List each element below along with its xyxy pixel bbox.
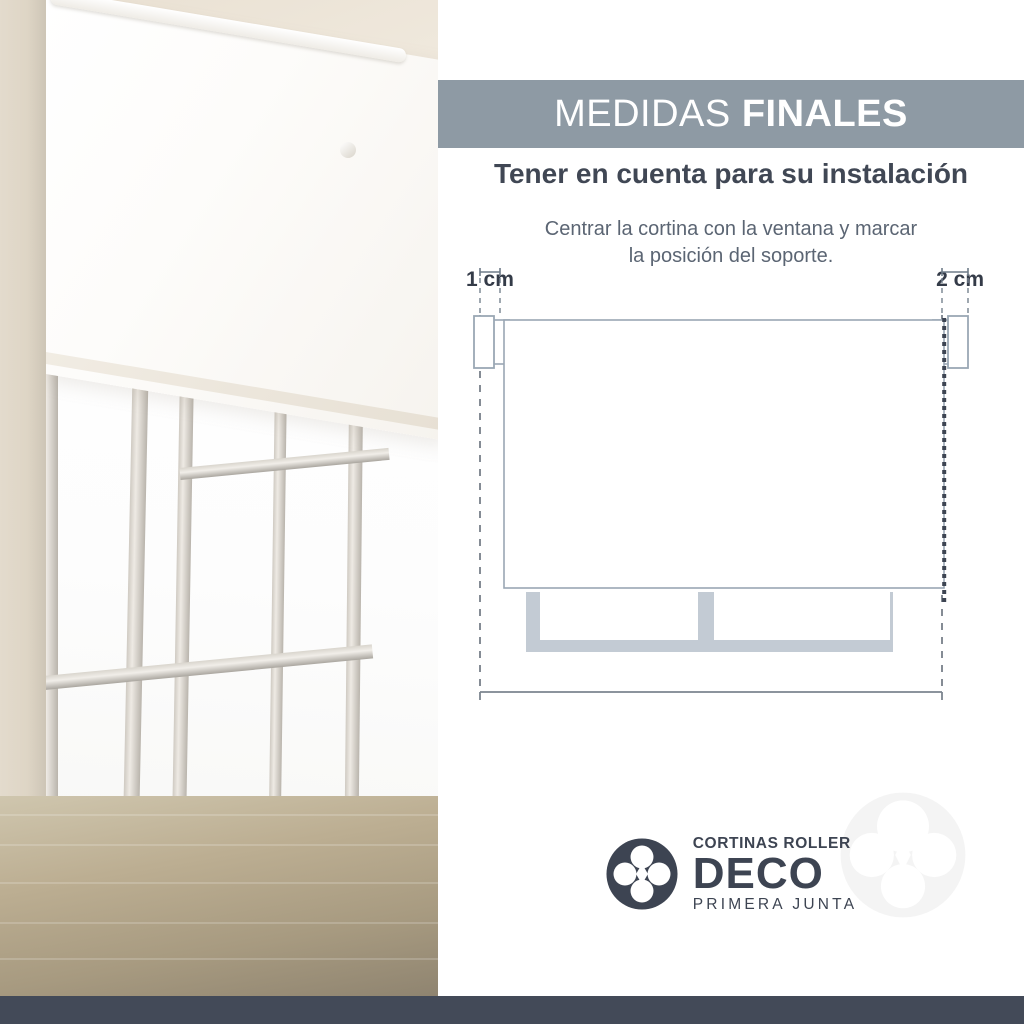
- info-panel: MEDIDAS FINALES Tener en cuenta para su …: [438, 0, 1024, 996]
- bracket-left: [474, 316, 494, 368]
- installation-diagram: [438, 260, 1024, 730]
- dim-tick-2cm: [942, 268, 968, 276]
- photo-roller-end-cap: [340, 142, 356, 158]
- photo-wall-left-column: [0, 0, 46, 900]
- header-banner: MEDIDAS FINALES: [438, 80, 1024, 148]
- brand-name: DECO: [693, 854, 857, 894]
- subtitle: Tener en cuenta para su instalación: [438, 158, 1024, 190]
- poster-canvas: MEDIDAS FINALES Tener en cuenta para su …: [0, 0, 1024, 1024]
- window-pane-left: [540, 592, 698, 640]
- page-title: MEDIDAS FINALES: [554, 93, 908, 136]
- brand-logo: CORTINAS ROLLER DECO PRIMERA JUNTA: [438, 836, 1024, 912]
- lead-line-1: Centrar la cortina con la ventana y marc…: [478, 216, 984, 243]
- page-title-light: MEDIDAS: [554, 93, 742, 135]
- product-photo: [0, 0, 438, 996]
- brand-wordmark: CORTINAS ROLLER DECO PRIMERA JUNTA: [693, 836, 857, 912]
- photo-floor: [0, 796, 438, 996]
- page-title-bold: FINALES: [742, 93, 908, 135]
- window-pane-right: [714, 592, 890, 640]
- dim-bracket-final-width: [480, 692, 942, 700]
- dim-tick-1cm: [480, 268, 500, 276]
- photo-roller-blind-fabric: [46, 0, 438, 441]
- bracket-right: [948, 316, 968, 368]
- brand-tagline-bottom: PRIMERA JUNTA: [693, 897, 857, 913]
- deco-flower-icon: [605, 837, 679, 911]
- blind-fabric-panel: [504, 320, 944, 588]
- bottom-bar: [0, 996, 1024, 1024]
